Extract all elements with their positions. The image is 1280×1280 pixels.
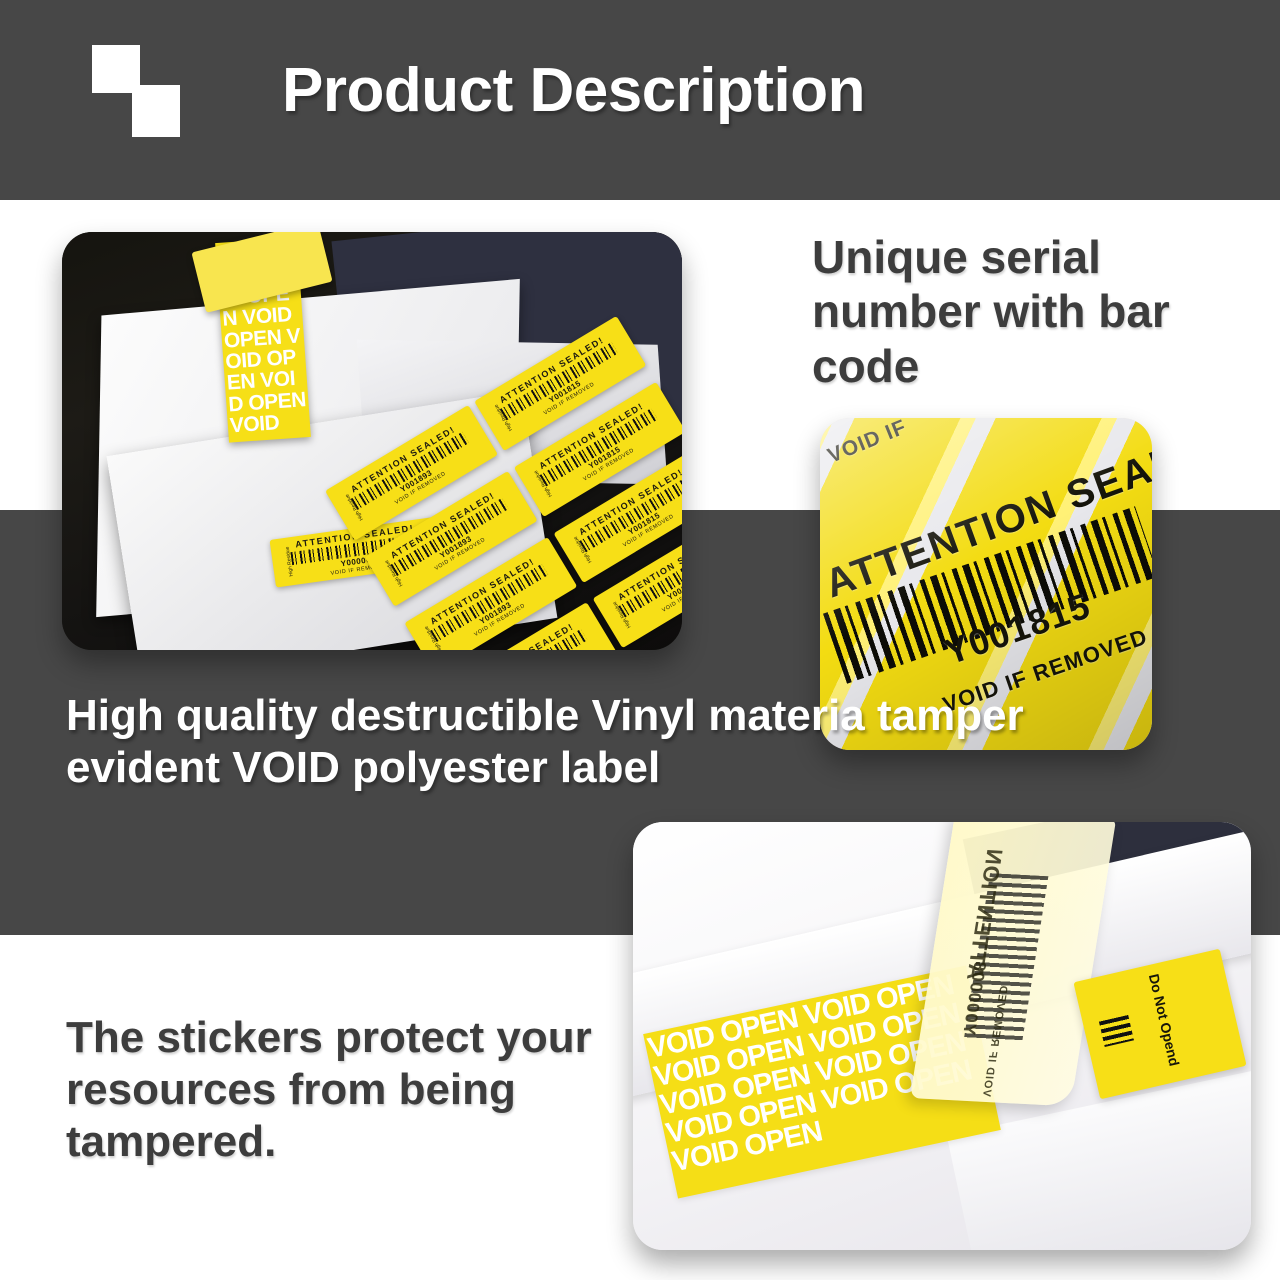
envelope-with-labels-photo: VOID OPEN VOID OPEN VOID OPEN VOID OPEN … [62,232,682,650]
page-title: Product Description [282,55,865,126]
headline-stickers-protect: The stickers protect your resources from… [66,1012,626,1168]
peeled-label-void-residue-photo: VOID OPEN VOID OPEN VOID OPEN VOID OPEN … [633,822,1251,1250]
do-not-open-text: Do Not Opend [1146,972,1183,1067]
headline-unique-serial: Unique serial number with bar code [812,230,1212,393]
headline-destructible-vinyl: High quality destructible Vinyl materia … [66,690,1056,794]
header-band: Product Description [0,0,1280,200]
barcode-icon [1099,1015,1134,1047]
two-squares-logo-icon [92,45,184,137]
